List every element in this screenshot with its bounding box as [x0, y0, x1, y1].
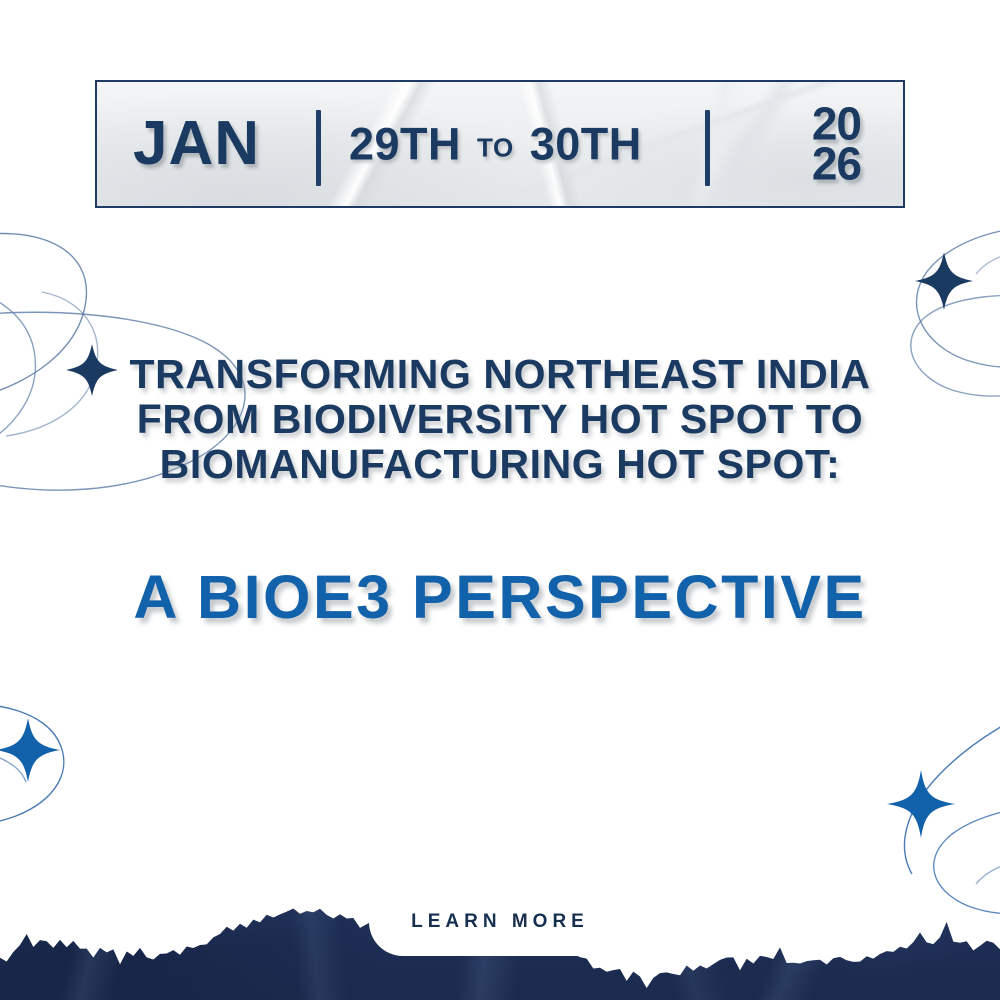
torn-paper-footer	[0, 720, 1000, 1000]
banner-connector: TO	[477, 133, 514, 163]
subheadline: A BIOE3 PERSPECTIVE	[0, 564, 1000, 630]
star-top-right-icon	[915, 252, 973, 310]
torn-paper-fill	[0, 720, 1000, 1000]
subheadline-line-1: A BIOE3 PERSPECTIVE	[133, 564, 866, 630]
banner-day-end: 30TH	[530, 119, 642, 170]
headline: TRANSFORMING NORTHEAST INDIA FROM BIODIV…	[0, 352, 1000, 487]
date-banner-inner: JAN 29THTO30TH 20 26	[97, 82, 903, 206]
banner-date-range: 29THTO30TH	[349, 122, 642, 167]
banner-year: 20 26	[812, 104, 861, 183]
poster-canvas: JAN 29THTO30TH 20 26 TRANSFORMING NORTHE…	[0, 0, 1000, 1000]
date-banner: JAN 29THTO30TH 20 26	[95, 80, 905, 208]
banner-day-start: 29TH	[349, 119, 461, 170]
banner-divider-right	[705, 110, 710, 186]
banner-month: JAN	[133, 113, 260, 175]
headline-line-2: FROM BIODIVERSITY HOT SPOT TO	[0, 397, 1000, 442]
headline-line-1: TRANSFORMING NORTHEAST INDIA	[0, 352, 1000, 397]
banner-year-bottom: 26	[812, 144, 861, 184]
headline-line-3: BIOMANUFACTURING HOT SPOT:	[0, 442, 1000, 487]
learn-more-button[interactable]: LEARN MORE	[369, 888, 631, 956]
banner-divider-left	[316, 110, 321, 186]
